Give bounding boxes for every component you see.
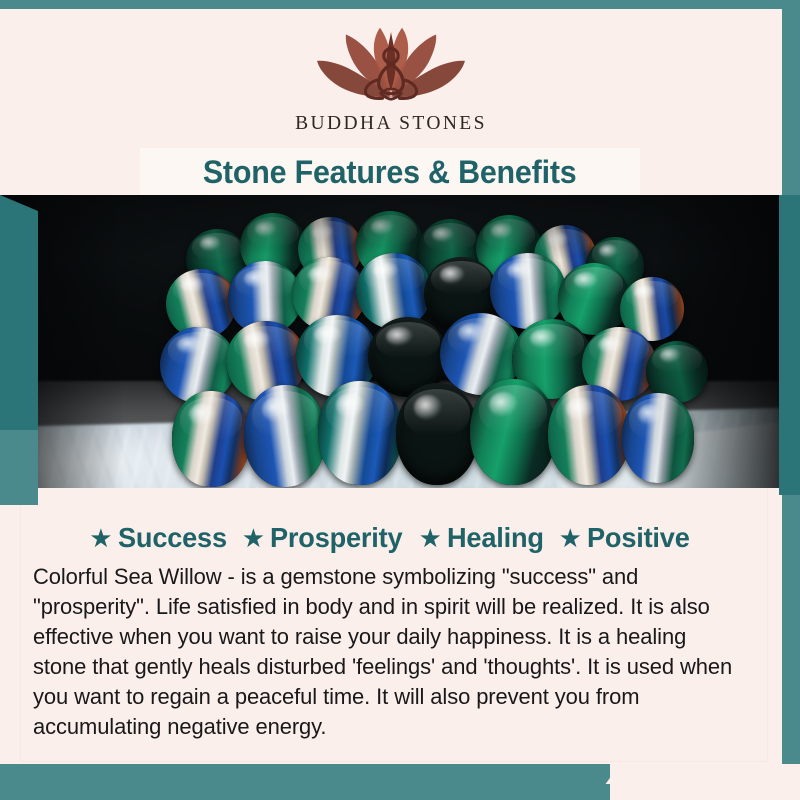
photo-canvas xyxy=(0,195,779,488)
right-teal-accent-band xyxy=(779,195,800,495)
bottom-right-cream-strip xyxy=(610,764,800,800)
benefits-row: ★ Success ★ Prosperity ★ Healing ★ Posit… xyxy=(0,518,782,558)
benefit-label: Positive xyxy=(587,522,690,554)
brand-logo: BUDDHA STONES xyxy=(0,23,782,135)
header-section: BUDDHA STONES Stone Features & Benefits xyxy=(0,9,782,194)
benefit-item: ★ Positive xyxy=(547,522,693,554)
photo-vignette xyxy=(0,195,779,488)
benefit-item: ★ Prosperity xyxy=(230,522,407,554)
benefit-label: Success xyxy=(118,522,227,554)
benefit-item: ★ Healing xyxy=(407,522,547,554)
star-icon: ★ xyxy=(559,525,582,551)
bottom-teal-band xyxy=(0,764,620,800)
benefit-item: ★ Success xyxy=(89,522,230,554)
star-icon: ★ xyxy=(419,525,442,551)
lotus-meditating-figure-icon xyxy=(306,23,476,109)
star-icon: ★ xyxy=(89,525,112,551)
page-title: Stone Features & Benefits xyxy=(203,154,577,191)
benefit-label: Prosperity xyxy=(270,522,402,554)
poster-canvas: BUDDHA STONES Stone Features & Benefits xyxy=(0,0,800,800)
benefit-label: Healing xyxy=(447,522,544,554)
left-teal-accent-lower xyxy=(0,430,38,505)
product-photo: Colorful Sea Willow xyxy=(0,195,779,488)
description-text: Colorful Sea Willow - is a gemstone symb… xyxy=(33,562,742,742)
description-block: Colorful Sea Willow - is a gemstone symb… xyxy=(33,562,753,742)
star-icon: ★ xyxy=(242,525,265,551)
title-plate: Stone Features & Benefits xyxy=(140,148,640,196)
brand-name: BUDDHA STONES xyxy=(295,113,487,135)
